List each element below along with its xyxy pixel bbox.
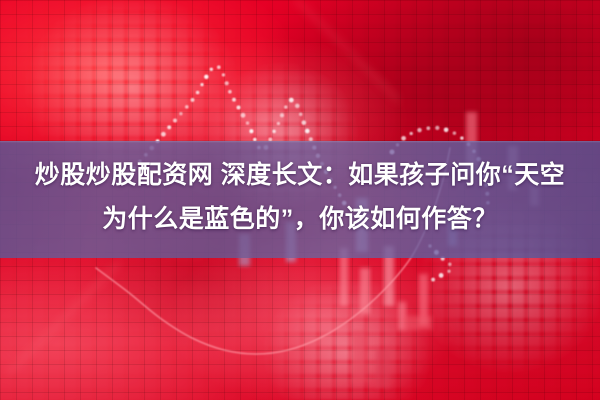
- chart-dot: [280, 113, 284, 117]
- chart-dot: [305, 129, 310, 134]
- chart-line: [296, 0, 398, 100]
- band-top-highlight: [0, 141, 600, 143]
- chart-dot: [200, 83, 203, 86]
- chart-dot: [301, 120, 306, 125]
- chart-bar: [404, 316, 432, 330]
- chart-dot: [272, 130, 275, 133]
- chart-dot: [222, 73, 225, 76]
- page-title: 炒股炒股配资网 深度长文：如果孩子问你“天空 为什么是蓝色的”，你该如何作答？: [0, 153, 600, 241]
- chart-dot: [217, 65, 221, 69]
- chart-dot: [417, 128, 421, 132]
- headline-line-2: 为什么是蓝色的”，你该如何作答？: [14, 197, 586, 241]
- promo-banner: 炒股炒股配资网 深度长文：如果孩子问你“天空 为什么是蓝色的”，你该如何作答？: [0, 0, 600, 400]
- chart-dot: [173, 118, 177, 122]
- chart-dot: [401, 136, 406, 141]
- chart-dot: [204, 75, 208, 79]
- headline-line-1: 炒股炒股配资网 深度长文：如果孩子问你“天空: [14, 153, 586, 197]
- chart-dot: [246, 121, 249, 124]
- chart-dot: [179, 112, 182, 115]
- chart-series: [10, 264, 118, 372]
- chart-dot: [448, 263, 452, 267]
- chart-dot: [447, 270, 450, 273]
- chart-dot: [426, 126, 430, 130]
- chart-dot: [299, 113, 303, 117]
- chart-dot: [196, 91, 200, 95]
- chart-dot: [284, 105, 287, 108]
- chart-dot: [191, 98, 195, 102]
- chart-dot: [289, 98, 294, 103]
- chart-dot: [460, 136, 463, 139]
- chart-dot: [249, 129, 253, 133]
- chart-dot: [232, 98, 236, 102]
- chart-dot: [435, 126, 439, 130]
- chart-dot: [185, 105, 189, 109]
- chart-line: [10, 264, 118, 372]
- chart-dot: [295, 104, 300, 109]
- chart-bar: [376, 348, 390, 388]
- chart-dot: [228, 90, 232, 94]
- chart-dot: [439, 273, 444, 278]
- chart-series: [296, 0, 398, 100]
- chart-dot: [277, 122, 280, 125]
- chart-bar: [352, 330, 368, 382]
- chart-dot: [241, 113, 246, 118]
- chart-dot: [236, 105, 240, 109]
- chart-dot: [410, 132, 413, 135]
- chart-dot: [225, 81, 229, 85]
- chart-dot: [161, 132, 166, 137]
- chart-dot: [453, 131, 457, 135]
- chart-dot: [210, 68, 213, 71]
- chart-dot: [444, 127, 449, 132]
- chart-dot: [431, 278, 435, 282]
- chart-dot: [167, 125, 171, 129]
